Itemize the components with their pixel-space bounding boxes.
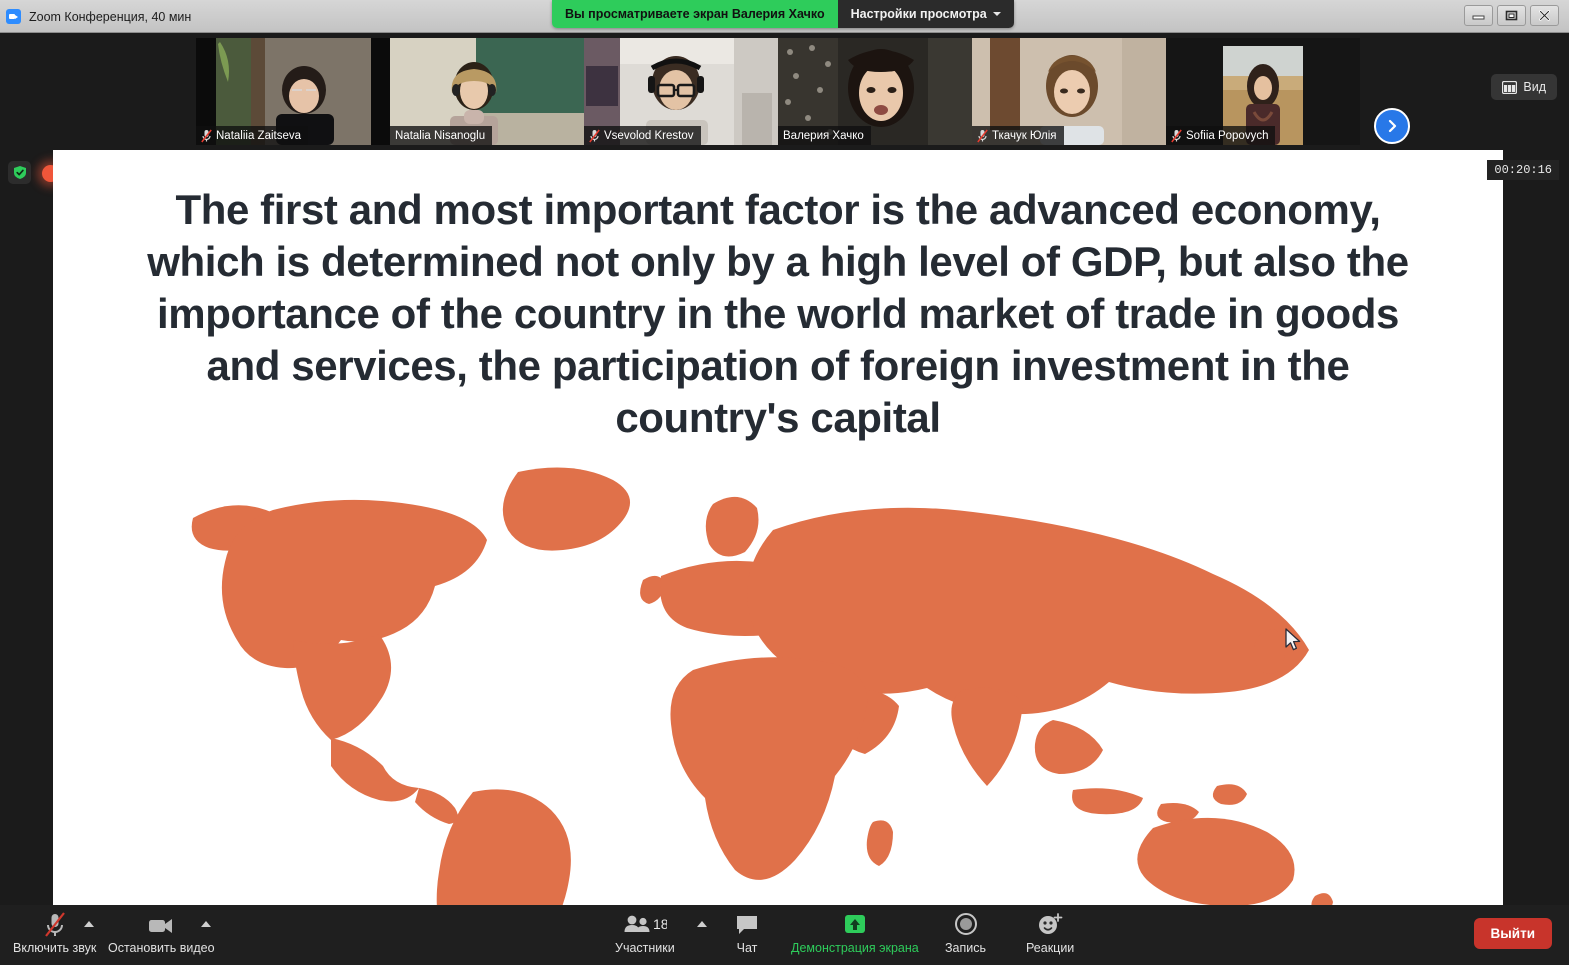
world-map-graphic bbox=[173, 460, 1393, 905]
participants-label: Участники bbox=[615, 941, 675, 955]
participant-tile[interactable]: Nataliia Zaitseva bbox=[196, 38, 390, 145]
chat-label: Чат bbox=[737, 941, 758, 955]
chat-button[interactable]: Чат bbox=[735, 912, 759, 955]
participant-name-badge: Ткачук Юлія bbox=[972, 126, 1064, 145]
participant-name: Natalia Nisanoglu bbox=[395, 130, 485, 142]
participant-name: Nataliia Zaitseva bbox=[216, 130, 301, 142]
participant-name-badge: Nataliia Zaitseva bbox=[196, 126, 308, 145]
view-settings-label: Настройки просмотра bbox=[851, 7, 987, 21]
participant-tile[interactable]: Sofiia Popovych bbox=[1166, 38, 1360, 145]
title-bar: Zoom Конференция, 40 мин Вы просматривае… bbox=[0, 0, 1569, 33]
meeting-toolbar: Включить звук Остановить видео 18 bbox=[0, 905, 1569, 965]
participant-name: Валерия Хачко bbox=[783, 130, 864, 142]
microphone-muted-icon bbox=[589, 129, 600, 143]
microphone-muted-icon bbox=[1171, 129, 1182, 143]
participants-options-caret-icon[interactable] bbox=[697, 921, 707, 927]
share-screen-button[interactable]: Демонстрация экрана bbox=[791, 912, 919, 955]
record-label: Запись bbox=[945, 941, 986, 955]
minimize-button[interactable] bbox=[1464, 5, 1493, 26]
audio-options-caret-icon[interactable] bbox=[84, 921, 94, 927]
participant-filmstrip: Nataliia Zaitseva bbox=[0, 33, 1569, 150]
participant-tile-active-speaker[interactable]: Валерия Хачко bbox=[778, 38, 972, 145]
unmute-audio-label: Включить звук bbox=[13, 941, 96, 955]
participants-button[interactable]: 18 Участники bbox=[615, 912, 675, 955]
shared-content: The first and most important factor is t… bbox=[53, 150, 1503, 905]
view-settings-button[interactable]: Настройки просмотра bbox=[838, 0, 1014, 28]
close-button[interactable] bbox=[1530, 5, 1559, 26]
record-circle-icon bbox=[953, 912, 979, 938]
record-button[interactable]: Запись bbox=[945, 912, 986, 955]
participant-name: Sofiia Popovych bbox=[1186, 130, 1268, 142]
microphone-muted-icon bbox=[977, 129, 988, 143]
zoom-logo-icon bbox=[6, 9, 21, 24]
share-screen-icon bbox=[842, 912, 868, 938]
participant-name-badge: Natalia Nisanoglu bbox=[390, 126, 492, 145]
microphone-muted-icon bbox=[43, 912, 67, 938]
microphone-muted-icon bbox=[201, 129, 212, 143]
participant-tile[interactable]: Ткачук Юлія bbox=[972, 38, 1166, 145]
zoom-window: Zoom Конференция, 40 мин Вы просматривае… bbox=[0, 0, 1569, 965]
stop-video-label: Остановить видео bbox=[108, 941, 215, 955]
view-button[interactable]: Вид bbox=[1491, 74, 1557, 100]
participant-name: Ткачук Юлія bbox=[992, 130, 1057, 142]
smiley-plus-icon bbox=[1036, 912, 1064, 938]
stop-video-button[interactable]: Остановить видео bbox=[108, 912, 215, 955]
screen-share-banner: Вы просматриваете экран Валерия Хачко На… bbox=[552, 0, 1014, 28]
participant-tile[interactable]: Vsevolod Krestov bbox=[584, 38, 778, 145]
svg-text:18: 18 bbox=[653, 916, 667, 932]
shield-check-icon[interactable] bbox=[8, 161, 31, 184]
shared-screen-stage: The first and most important factor is t… bbox=[0, 150, 1569, 905]
participant-name: Vsevolod Krestov bbox=[604, 130, 694, 142]
window-controls bbox=[1464, 5, 1559, 26]
video-options-caret-icon[interactable] bbox=[201, 921, 211, 927]
share-status-label: Вы просматриваете экран Валерия Хачко bbox=[552, 0, 838, 28]
people-icon: 18 bbox=[623, 912, 667, 938]
chevron-right-icon[interactable] bbox=[1374, 108, 1410, 144]
participant-name-badge: Sofiia Popovych bbox=[1166, 126, 1275, 145]
share-screen-label: Демонстрация экрана bbox=[791, 941, 919, 955]
participant-tile[interactable]: Natalia Nisanoglu bbox=[390, 38, 584, 145]
slide-text: The first and most important factor is t… bbox=[53, 184, 1503, 444]
window-title: Zoom Конференция, 40 мин bbox=[29, 10, 191, 24]
view-label: Вид bbox=[1523, 80, 1546, 94]
chevron-down-icon bbox=[993, 12, 1001, 16]
restore-button[interactable] bbox=[1497, 5, 1526, 26]
participant-name-badge: Vsevolod Krestov bbox=[584, 126, 701, 145]
reactions-label: Реакции bbox=[1026, 941, 1074, 955]
participant-name-badge: Валерия Хачко bbox=[778, 126, 871, 145]
camera-icon bbox=[147, 912, 175, 938]
leave-meeting-button[interactable]: Выйти bbox=[1474, 918, 1553, 949]
reactions-button[interactable]: Реакции bbox=[1026, 912, 1074, 955]
chat-bubble-icon bbox=[735, 912, 759, 938]
meeting-timer: 00:20:16 bbox=[1487, 160, 1559, 180]
grid-view-icon bbox=[1502, 81, 1517, 94]
unmute-audio-button[interactable]: Включить звук bbox=[13, 912, 96, 955]
mouse-pointer-icon bbox=[1285, 628, 1301, 652]
title-bar-left: Zoom Конференция, 40 мин bbox=[6, 0, 191, 33]
